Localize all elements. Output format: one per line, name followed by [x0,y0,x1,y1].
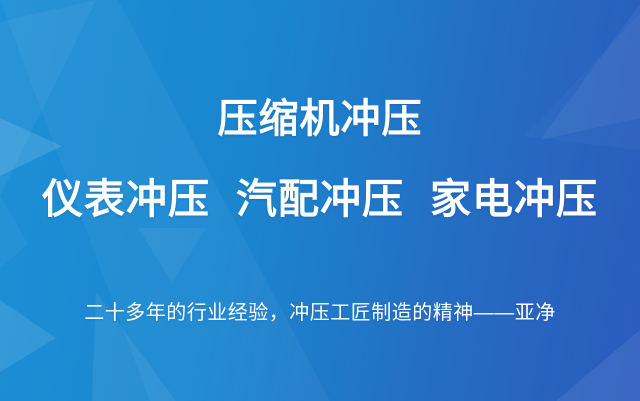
subline-item-1: 仪表冲压 [42,176,210,222]
banner-tagline: 二十多年的行业经验，冲压工匠制造的精神——亚净 [0,300,640,326]
subline-item-2: 汽配冲压 [236,176,404,222]
banner-subline: 仪表冲压汽配冲压家电冲压 [0,177,640,222]
banner-headline: 压缩机冲压 [0,98,640,141]
promo-banner: 压缩机冲压 仪表冲压汽配冲压家电冲压 二十多年的行业经验，冲压工匠制造的精神——… [0,0,640,401]
banner-text-block: 压缩机冲压 仪表冲压汽配冲压家电冲压 二十多年的行业经验，冲压工匠制造的精神——… [0,0,640,401]
subline-item-3: 家电冲压 [430,176,598,222]
